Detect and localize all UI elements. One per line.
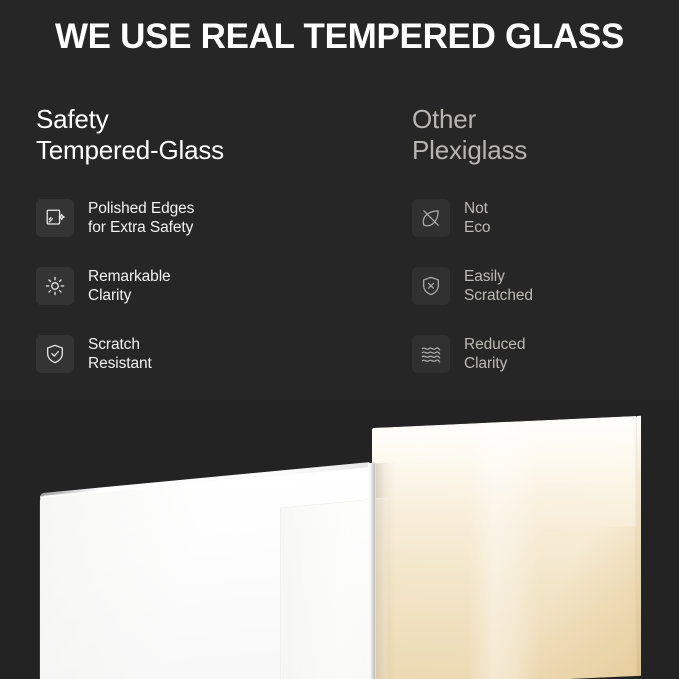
plexiglass-warm-glow — [518, 526, 638, 679]
column-heading-safety: Safety Tempered-Glass — [36, 104, 336, 166]
feature-remarkable-clarity-line1: Remarkable — [88, 268, 171, 285]
plexiglass-panel-image — [372, 416, 638, 679]
column-heading-safety-line2: Tempered-Glass — [36, 135, 336, 166]
comparison-columns: Safety Tempered-Glass Polished Edges — [0, 104, 679, 404]
feature-remarkable-clarity: Remarkable Clarity — [36, 264, 336, 308]
feature-easily-scratched-line2: Scratched — [464, 286, 533, 305]
polished-edges-icon — [36, 199, 74, 237]
column-safety-tempered-glass: Safety Tempered-Glass Polished Edges — [36, 104, 336, 400]
infographic-root: WE USE REAL TEMPERED GLASS Safety Temper… — [0, 0, 679, 679]
leaf-crossed-out-icon — [412, 199, 450, 237]
feature-scratch-resistant: Scratch Resistant — [36, 332, 336, 376]
column-heading-other-line1: Other — [412, 104, 476, 134]
feature-not-eco: Not Eco — [412, 196, 679, 240]
product-photo — [0, 400, 679, 679]
feature-easily-scratched: Easily Scratched — [412, 264, 679, 308]
feature-not-eco-label: Not Eco — [464, 199, 490, 237]
feature-reduced-clarity-line2: Clarity — [464, 354, 525, 373]
wavy-lines-icon — [412, 335, 450, 373]
feature-easily-scratched-line1: Easily — [464, 268, 505, 285]
sun-clarity-icon — [36, 267, 74, 305]
tempered-glass-polished-right-edge — [368, 462, 376, 679]
feature-polished-edges-label: Polished Edges for Extra Safety — [88, 199, 194, 237]
feature-reduced-clarity-line1: Reduced — [464, 336, 525, 353]
feature-remarkable-clarity-label: Remarkable Clarity — [88, 267, 171, 305]
feature-list-other: Not Eco Easily Scratched — [412, 196, 679, 376]
plexiglass-right-edge — [637, 416, 641, 676]
feature-scratch-resistant-line1: Scratch — [88, 336, 140, 353]
column-heading-other: Other Plexiglass — [412, 104, 679, 166]
feature-polished-edges-line2: for Extra Safety — [88, 218, 194, 237]
feature-list-safety: Polished Edges for Extra Safety — [36, 196, 336, 376]
page-title: WE USE REAL TEMPERED GLASS — [0, 16, 679, 58]
feature-not-eco-line1: Not — [464, 200, 488, 217]
feature-scratch-resistant-label: Scratch Resistant — [88, 335, 152, 373]
feature-scratch-resistant-line2: Resistant — [88, 354, 152, 373]
feature-easily-scratched-label: Easily Scratched — [464, 267, 533, 305]
column-heading-other-line2: Plexiglass — [412, 135, 679, 166]
tempered-glass-panel-image — [40, 465, 370, 679]
shield-check-icon — [36, 335, 74, 373]
column-other-plexiglass: Other Plexiglass Not Eco — [412, 104, 679, 400]
feature-reduced-clarity-label: Reduced Clarity — [464, 335, 525, 373]
feature-reduced-clarity: Reduced Clarity — [412, 332, 679, 376]
feature-polished-edges: Polished Edges for Extra Safety — [36, 196, 336, 240]
shield-x-icon — [412, 267, 450, 305]
feature-not-eco-line2: Eco — [464, 218, 490, 237]
feature-polished-edges-line1: Polished Edges — [88, 200, 194, 217]
feature-remarkable-clarity-line2: Clarity — [88, 286, 171, 305]
column-heading-safety-line1: Safety — [36, 104, 109, 134]
